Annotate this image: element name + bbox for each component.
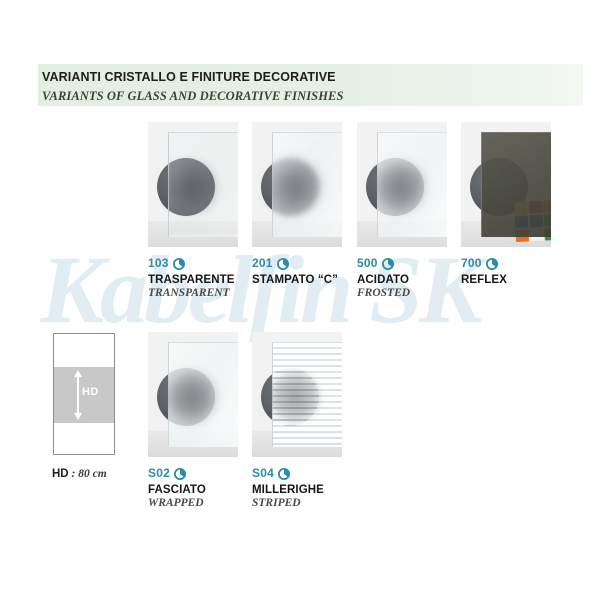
hd-caption: HD : 80 cm [52, 468, 107, 480]
swatch-photo-frosted [357, 122, 447, 247]
swatch-name: MILLERIGHE [252, 484, 342, 496]
swatch-name: ACIDATO [357, 274, 447, 286]
swatch-name: STAMPATO “C” [252, 274, 342, 286]
page-subtitle: VARIANTS OF GLASS AND DECORATIVE FINISHE… [42, 89, 344, 104]
glass-disc-icon [382, 257, 394, 269]
diffused-sphere [165, 161, 217, 213]
glass-disc-icon [486, 257, 498, 269]
glass-disc-icon [278, 467, 290, 479]
hd-caption-value: 80 cm [78, 468, 106, 480]
diffused-sphere [165, 371, 217, 423]
swatch-card-S02[interactable]: S02 FASCIATO WRAPPED [148, 332, 238, 509]
swatch-name-en: FROSTED [357, 287, 447, 299]
hd-caption-key: HD [52, 468, 69, 480]
swatch-code-row: S04 [252, 465, 342, 480]
glass-disc-icon [277, 257, 289, 269]
swatch-code: S02 [148, 466, 170, 480]
diffused-sphere [269, 161, 321, 213]
glass-pane-clear [168, 132, 238, 237]
swatch-code: 103 [148, 256, 169, 270]
swatch-name: FASCIATO [148, 484, 238, 496]
swatch-card-103[interactable]: 103 TRASPARENTE TRANSPARENT [148, 122, 238, 299]
swatch-code: 201 [252, 256, 273, 270]
swatch-card-S04[interactable]: S04 MILLERIGHE STRIPED [252, 332, 342, 509]
swatch-code-row: 700 [461, 255, 551, 270]
swatch-code-row: 103 [148, 255, 238, 270]
swatch-code-row: 500 [357, 255, 447, 270]
swatch-photo-printed [252, 122, 342, 247]
swatch-photo-wrapped [148, 332, 238, 457]
swatch-code-row: S02 [148, 465, 238, 480]
glass-pane-frosted [377, 132, 447, 237]
swatch-card-700[interactable]: 700 REFLEX [461, 122, 551, 287]
swatch-code-row: 201 [252, 255, 342, 270]
glass-pane-reflex [481, 132, 551, 237]
swatch-name: TRASPARENTE [148, 274, 238, 286]
glass-pane-wrapped [168, 342, 238, 447]
diffused-sphere [374, 161, 426, 213]
hd-band-label: HD [82, 386, 99, 398]
diffused-sphere [269, 371, 321, 423]
glass-disc-icon [174, 467, 186, 479]
swatch-photo-reflex [461, 122, 551, 247]
swatch-code: 700 [461, 256, 482, 270]
swatch-photo-striped [252, 332, 342, 457]
swatch-code: 500 [357, 256, 378, 270]
hd-caption-sep: : [69, 468, 79, 480]
page-title: VARIANTI CRISTALLO E FINITURE DECORATIVE [42, 70, 336, 84]
hd-panel-outline: HD [53, 333, 115, 455]
swatch-card-201[interactable]: 201 STAMPATO “C” [252, 122, 342, 287]
swatch-card-500[interactable]: 500 ACIDATO FROSTED [357, 122, 447, 299]
swatch-name: REFLEX [461, 274, 551, 286]
swatch-name-en: WRAPPED [148, 497, 238, 509]
swatch-photo-transparent [148, 122, 238, 247]
swatch-name-en: STRIPED [252, 497, 342, 509]
swatch-name-en: TRANSPARENT [148, 287, 238, 299]
swatch-code: S04 [252, 466, 274, 480]
hd-diagram: HD [53, 333, 115, 455]
glass-disc-icon [173, 257, 185, 269]
glass-pane-printed [272, 132, 342, 237]
glass-pane-striped [272, 342, 342, 447]
